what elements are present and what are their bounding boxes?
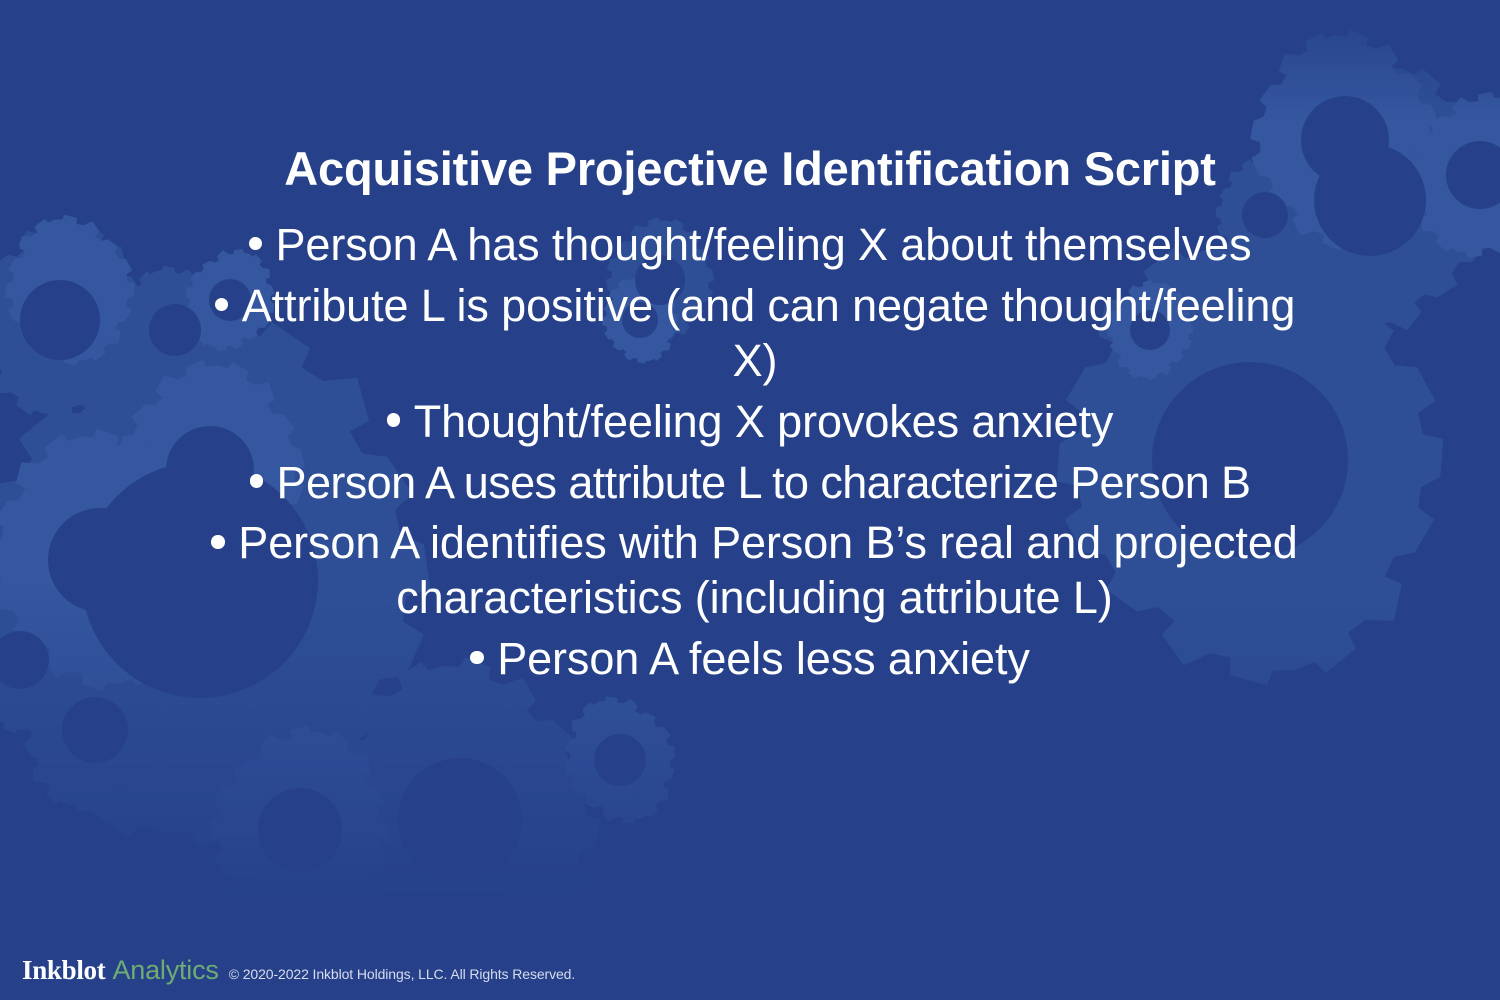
bullet-dot-icon bbox=[470, 651, 484, 665]
list-item: Attribute L is positive (and can negate … bbox=[210, 279, 1300, 389]
footer: Inkblot Analytics © 2020-2022 Inkblot Ho… bbox=[22, 955, 575, 986]
bullet-list: Person A has thought/feeling X about the… bbox=[60, 218, 1440, 693]
list-item: Person A feels less anxiety bbox=[60, 632, 1440, 687]
list-item-label: Thought/feeling X provokes anxiety bbox=[414, 396, 1114, 447]
bullet-dot-icon bbox=[211, 535, 225, 549]
logo-inkblot: Inkblot bbox=[22, 955, 105, 986]
slide-canvas: Acquisitive Projective Identification Sc… bbox=[0, 0, 1500, 1000]
list-item: Person A identifies with Person B’s real… bbox=[132, 516, 1377, 626]
list-item-label: Person A has thought/feeling X about the… bbox=[276, 219, 1252, 270]
list-item: Thought/feeling X provokes anxiety bbox=[60, 395, 1440, 450]
page-title: Acquisitive Projective Identification Sc… bbox=[0, 143, 1500, 195]
list-item: Person A has thought/feeling X about the… bbox=[60, 218, 1440, 273]
bullet-dot-icon bbox=[215, 298, 229, 312]
bullet-dot-icon bbox=[250, 474, 264, 488]
list-item: Person A uses attribute L to characteriz… bbox=[60, 456, 1440, 511]
bullet-dot-icon bbox=[249, 237, 263, 251]
list-item-label: Person A identifies with Person B’s real… bbox=[238, 517, 1297, 623]
list-item-label: Person A feels less anxiety bbox=[497, 633, 1030, 684]
list-item-label: Attribute L is positive (and can negate … bbox=[242, 280, 1296, 386]
copyright-notice: © 2020-2022 Inkblot Holdings, LLC. All R… bbox=[226, 966, 575, 982]
logo-analytics: Analytics bbox=[112, 955, 218, 986]
list-item-label: Person A uses attribute L to characteriz… bbox=[277, 457, 1251, 508]
bullet-dot-icon bbox=[387, 413, 401, 427]
